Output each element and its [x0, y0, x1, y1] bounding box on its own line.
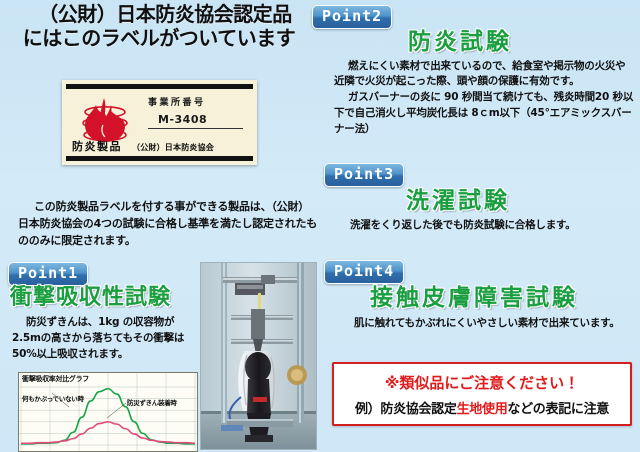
chart-series-name-1: 防災ずきん装着時 — [127, 399, 177, 407]
point4-badge-row: Point4 — [324, 260, 638, 284]
establishment-number-label: 事業所番号 — [148, 95, 206, 108]
point3-title: 洗濯試験 — [406, 188, 510, 214]
label-footer-association: （公財）日本防炎協会 — [132, 142, 214, 153]
point2-badge: Point2 — [312, 5, 392, 29]
warning-subline: 例）防炎協会認定生地使用などの表記に注意 — [334, 398, 630, 417]
point2-body: 燃えにくい素材で出来ているので、給食室や掲示物の火災や近隣で火災が起こった際、頭… — [334, 59, 634, 138]
chart-plot-area — [19, 373, 197, 451]
point4-title-row: 接触皮膚障害試験 — [370, 286, 638, 311]
impact-test-rig-photo — [200, 262, 317, 450]
warning-subline-highlight: 生地使用 — [457, 402, 508, 417]
point3-badge: Point3 — [324, 163, 404, 187]
point1-body-text: 防災ずきんは、1kg の収容物が2.5mの高さから落ちてもその衝撃は50%以上吸… — [12, 315, 194, 362]
certification-label-card: 事業所番号 M-3408 防炎製品 （公財）日本防炎協会 — [62, 80, 257, 165]
point1-body: 防災ずきんは、1kg の収容物が2.5mの高さから落ちてもその衝撃は50%以上吸… — [12, 315, 194, 362]
point1-badge: Point1 — [8, 262, 88, 286]
label-footer: 防炎製品 （公財）日本防炎協会 — [72, 138, 248, 154]
point-block-3: Point3 洗濯試験 洗濯をくり返した後でも防炎試験に合格します。 — [324, 163, 638, 233]
point2-body-line1: 燃えにくい素材で出来ているので、給食室や掲示物の火災や近隣で火災が起こった際、頭… — [334, 59, 634, 91]
point4-title: 接触皮膚障害試験 — [370, 285, 578, 311]
point4-body: 肌に触れてもかぶれにくいやさしい素材で出来ています。 — [354, 316, 638, 332]
point2-title: 防炎試験 — [408, 29, 512, 55]
warning-subline-post: などの表記に注意 — [507, 402, 609, 417]
label-top-bar — [66, 84, 253, 89]
point4-badge: Point4 — [324, 260, 404, 284]
establishment-number-value: M-3408 — [158, 113, 207, 126]
chart-series-label-green: 何もかぶっていない時 — [22, 395, 84, 403]
intro-paragraph: この防炎製品ラベルを付する事ができる製品は、（公財）日本防炎協会の4つの試験に合… — [18, 198, 318, 249]
infographic-page: （公財）日本防炎協会認定品 にはこのラベルがついています 事業所番号 M-340… — [0, 0, 640, 452]
point-block-1: Point1 衝撃吸収性試験 防災ずきんは、1kg の収容物が2.5mの高さから… — [8, 262, 198, 363]
point2-badge-row: Point2 — [312, 5, 638, 29]
point1-title-row: 衝撃吸収性試験 — [8, 286, 198, 310]
label-footer-product: 防炎製品 — [72, 138, 122, 154]
counterfeit-warning-box: ※類似品にご注意ください！ 例）防炎協会認定生地使用などの表記に注意 — [332, 362, 632, 426]
point1-badge-row: Point1 — [8, 262, 198, 286]
point-block-4: Point4 接触皮膚障害試験 肌に触れてもかぶれにくいやさしい素材で出来ていま… — [324, 260, 638, 331]
point2-body-line2: ガスバーナーの炎に 90 秒間当て続けても、残炎時間20 秒以下で自己消火し平均… — [334, 90, 634, 137]
page-title: （公財）日本防炎協会認定品 にはこのラベルがついています — [0, 2, 330, 51]
point2-title-row: 防炎試験 — [408, 30, 638, 55]
chart-series-label-pink: 防災ずきん装着時 — [127, 399, 177, 407]
point1-title: 衝撃吸収性試験 — [10, 285, 171, 310]
point3-badge-row: Point3 — [324, 163, 638, 187]
chart-series-name-0: 何もかぶっていない時 — [22, 395, 84, 403]
impact-absorption-chart: 衝撃吸収率対比グラフ 何もかぶっていない時 防災ずきん装着時 — [18, 372, 198, 452]
point3-title-row: 洗濯試験 — [406, 189, 638, 214]
warning-subline-pre: 例）防炎協会認定 — [355, 402, 457, 417]
warning-headline: ※類似品にご注意ください！ — [334, 372, 630, 393]
point-block-2: Point2 防炎試験 燃えにくい素材で出来ているので、給食室や掲示物の火災や近… — [312, 5, 638, 137]
establishment-number-rule — [148, 128, 243, 129]
page-title-line2: にはこのラベルがついています — [0, 26, 330, 50]
chart-title: 衝撃吸収率対比グラフ — [22, 374, 89, 384]
point3-body: 洗濯をくり返した後でも防炎試験に合格します。 — [350, 218, 638, 234]
page-title-line1: （公財）日本防炎協会認定品 — [0, 2, 330, 26]
label-bottom-bar — [66, 156, 253, 161]
